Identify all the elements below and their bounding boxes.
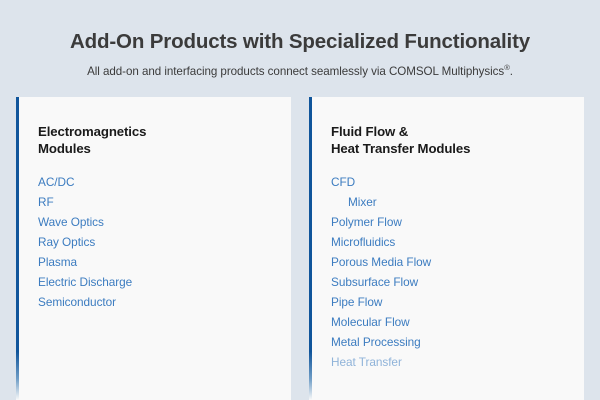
- list-item: Polymer Flow: [331, 212, 562, 232]
- module-link-electric-discharge[interactable]: Electric Discharge: [38, 273, 132, 292]
- module-link-pipe-flow[interactable]: Pipe Flow: [331, 293, 382, 312]
- card-title-line-1: Electromagnetics: [38, 124, 146, 139]
- module-list-electromagnetics: AC/DC RF Wave Optics Ray Optics Plasma E…: [38, 172, 269, 312]
- list-item: Plasma: [38, 252, 269, 272]
- list-item: RF: [38, 192, 269, 212]
- module-link-heat-transfer[interactable]: Heat Transfer: [331, 353, 402, 372]
- module-link-ray-optics[interactable]: Ray Optics: [38, 233, 95, 252]
- list-item: Electric Discharge: [38, 272, 269, 292]
- list-item: AC/DC: [38, 172, 269, 192]
- page-header: Add-On Products with Specialized Functio…: [0, 0, 600, 78]
- card-fluid-flow-heat-transfer-modules: Fluid Flow & Heat Transfer Modules CFD M…: [309, 97, 584, 400]
- card-title-fluid-flow-heat-transfer: Fluid Flow & Heat Transfer Modules: [331, 124, 562, 158]
- card-title-electromagnetics: Electromagnetics Modules: [38, 124, 269, 158]
- module-link-molecular-flow[interactable]: Molecular Flow: [331, 313, 410, 332]
- module-link-metal-processing[interactable]: Metal Processing: [331, 333, 421, 352]
- module-link-porous-media-flow[interactable]: Porous Media Flow: [331, 253, 431, 272]
- card-title-line-2: Heat Transfer Modules: [331, 141, 470, 156]
- page-subtitle: All add-on and interfacing products conn…: [0, 54, 600, 79]
- list-item: Microfluidics: [331, 232, 562, 252]
- module-link-polymer-flow[interactable]: Polymer Flow: [331, 213, 402, 232]
- page-title: Add-On Products with Specialized Functio…: [0, 0, 600, 54]
- module-link-acdc[interactable]: AC/DC: [38, 173, 74, 192]
- module-link-plasma[interactable]: Plasma: [38, 253, 77, 272]
- list-item: Metal Processing: [331, 332, 562, 352]
- list-item: Ray Optics: [38, 232, 269, 252]
- list-item: Pipe Flow: [331, 292, 562, 312]
- list-item: CFD: [331, 172, 562, 192]
- list-item: Wave Optics: [38, 212, 269, 232]
- product-columns: Electromagnetics Modules AC/DC RF Wave O…: [16, 97, 584, 400]
- list-item: Molecular Flow: [331, 312, 562, 332]
- list-item: Heat Transfer: [331, 352, 562, 372]
- module-link-mixer[interactable]: Mixer: [348, 193, 377, 212]
- module-link-wave-optics[interactable]: Wave Optics: [38, 213, 104, 232]
- list-item: Subsurface Flow: [331, 272, 562, 292]
- module-link-cfd[interactable]: CFD: [331, 173, 355, 192]
- module-link-rf[interactable]: RF: [38, 193, 54, 212]
- card-title-line-2: Modules: [38, 141, 91, 156]
- list-item: Porous Media Flow: [331, 252, 562, 272]
- card-electromagnetics-modules: Electromagnetics Modules AC/DC RF Wave O…: [16, 97, 291, 400]
- page-subtitle-period: .: [510, 65, 513, 78]
- card-title-line-1: Fluid Flow &: [331, 124, 408, 139]
- module-link-semiconductor[interactable]: Semiconductor: [38, 293, 116, 312]
- list-item: Semiconductor: [38, 292, 269, 312]
- product-overview-page: Add-On Products with Specialized Functio…: [0, 0, 600, 400]
- page-subtitle-text: All add-on and interfacing products conn…: [87, 65, 504, 78]
- module-link-subsurface-flow[interactable]: Subsurface Flow: [331, 273, 418, 292]
- module-list-fluid-flow-heat-transfer: CFD Mixer Polymer Flow Microfluidics Por…: [331, 172, 562, 372]
- module-link-microfluidics[interactable]: Microfluidics: [331, 233, 395, 252]
- list-item: Mixer: [331, 192, 562, 212]
